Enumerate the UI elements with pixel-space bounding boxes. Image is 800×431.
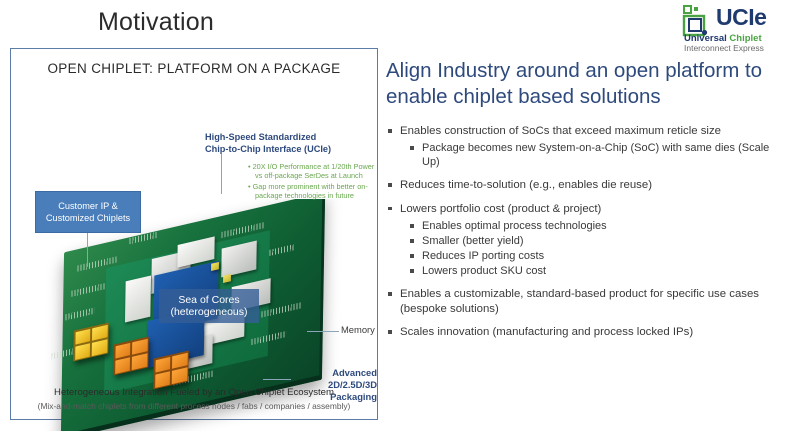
right-content: Align Industry around an open platform t… bbox=[386, 58, 790, 348]
list-item: Enables construction of SoCs that exceed… bbox=[386, 124, 790, 169]
benefit-list: Enables construction of SoCs that exceed… bbox=[386, 124, 790, 339]
list-item: Smaller (better yield) bbox=[400, 234, 790, 248]
leader-line-packaging bbox=[263, 379, 291, 380]
list-item: Enables optimal process technologies bbox=[400, 219, 790, 233]
slide-root: Motivation UCIe Universal Chiplet Interc… bbox=[0, 0, 800, 426]
bullet-text: Scales innovation (manufacturing and pro… bbox=[400, 326, 693, 338]
list-item: Enables a customizable, standard-based p… bbox=[386, 287, 790, 316]
callout-sea-of-cores: Sea of Cores (heterogeneous) bbox=[159, 289, 259, 323]
callout-customer-ip-text: Customer IP & Customized Chiplets bbox=[46, 200, 130, 224]
ucie-callout-line2: Chip-to-Chip Interface (UCIe) bbox=[205, 144, 331, 154]
sea-of-cores-line2: (heterogeneous) bbox=[170, 306, 247, 318]
ucie-benefit-item: 20X I/O Performance at 1/20th Power vs o… bbox=[255, 162, 375, 181]
ucie-benefit-item: Gap more prominent with better on-packag… bbox=[255, 182, 375, 201]
sub-list: Enables optimal process technologies Sma… bbox=[400, 219, 790, 278]
bullet-text: Enables a customizable, standard-based p… bbox=[400, 288, 759, 314]
customer-ip-line2: Customized Chiplets bbox=[46, 213, 130, 223]
list-item: Scales innovation (manufacturing and pro… bbox=[386, 325, 790, 339]
bullet-text: Enables construction of SoCs that exceed… bbox=[400, 125, 721, 137]
ucie-wordmark: UCIe bbox=[716, 5, 766, 30]
ucie-callout-line1: High-Speed Standardized bbox=[205, 132, 316, 142]
packaging-line1: Advanced bbox=[332, 367, 377, 378]
page-title: Motivation bbox=[98, 6, 214, 38]
sub-list: Package becomes new System-on-a-Chip (So… bbox=[400, 141, 790, 169]
list-item: Lowers product SKU cost bbox=[400, 264, 790, 278]
bullet-text: Reduces time-to-solution (e.g., enables … bbox=[400, 179, 652, 191]
sea-of-cores-text: Sea of Cores (heterogeneous) bbox=[170, 294, 247, 318]
ucie-logo: UCIe Universal Chiplet Interconnect Expr… bbox=[682, 3, 794, 51]
panel-caption-sub: (Mix-and-match chiplets from different p… bbox=[11, 401, 377, 411]
list-item: Reduces time-to-solution (e.g., enables … bbox=[386, 178, 790, 192]
leader-line-customer-ip bbox=[87, 231, 88, 267]
callout-ucie-interface: High-Speed Standardized Chip-to-Chip Int… bbox=[205, 132, 375, 155]
right-heading: Align Industry around an open platform t… bbox=[386, 58, 790, 110]
sea-of-cores-line1: Sea of Cores bbox=[178, 294, 239, 306]
list-item: Package becomes new System-on-a-Chip (So… bbox=[400, 141, 790, 169]
panel-caption-main: Heterogeneous Integration Fueled by an O… bbox=[11, 387, 377, 398]
callout-customer-ip: Customer IP & Customized Chiplets bbox=[35, 191, 141, 233]
open-chiplet-panel: OPEN CHIPLET: PLATFORM ON A PACKAGE bbox=[10, 48, 378, 420]
customer-ip-line1: Customer IP & bbox=[58, 201, 118, 211]
bullet-text: Lowers portfolio cost (product & project… bbox=[400, 203, 601, 215]
list-item: Lowers portfolio cost (product & project… bbox=[386, 202, 790, 278]
panel-title: OPEN CHIPLET: PLATFORM ON A PACKAGE bbox=[11, 61, 377, 76]
leader-line-ucie bbox=[221, 154, 222, 194]
ucie-benefit-list: 20X I/O Performance at 1/20th Power vs o… bbox=[247, 162, 375, 202]
chiplet-white bbox=[125, 275, 151, 322]
leader-line-memory bbox=[307, 331, 339, 332]
logo-subtitle-line2: Interconnect Express bbox=[684, 43, 764, 53]
list-item: Reduces IP porting costs bbox=[400, 249, 790, 263]
callout-memory: Memory bbox=[341, 324, 375, 335]
